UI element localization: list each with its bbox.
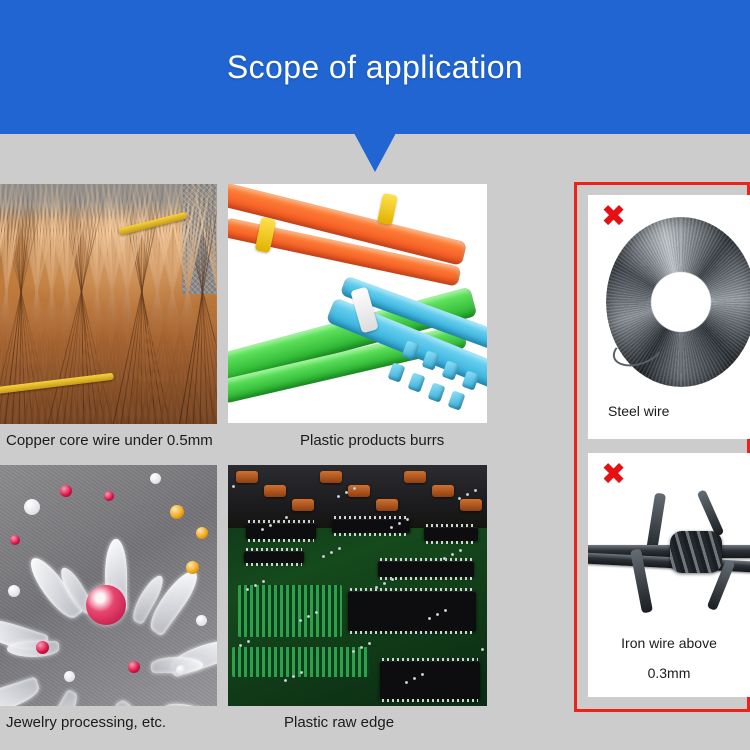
jewelry-gem bbox=[176, 665, 186, 675]
pcb-capacitor bbox=[264, 485, 286, 497]
pcb-solder-point bbox=[232, 485, 235, 488]
pcb-chip bbox=[348, 591, 476, 631]
pcb-capacitor bbox=[348, 485, 370, 497]
pcb-solder-point bbox=[390, 526, 393, 529]
pcb-solder-point bbox=[299, 619, 302, 622]
pcb-chip bbox=[246, 523, 316, 539]
pcb-solder-point bbox=[383, 582, 386, 585]
unsuitable-card-iron-wire: ✖ Iron wire above 0.3mm bbox=[588, 453, 750, 697]
caption-plastic-products-burrs: Plastic products burrs bbox=[300, 432, 444, 449]
jewelry-petal bbox=[114, 697, 154, 706]
jewelry-center-stone bbox=[86, 585, 126, 625]
jewelry-gem bbox=[128, 661, 140, 673]
pcb-solder-point bbox=[330, 551, 333, 554]
pcb-solder-point bbox=[307, 615, 310, 618]
pcb-solder-point bbox=[239, 644, 242, 647]
steel-wire-coil-art bbox=[606, 217, 750, 387]
jewelry-gem bbox=[150, 473, 161, 484]
pcb-solder-point bbox=[443, 557, 446, 560]
caption-jewelry-processing: Jewelry processing, etc. bbox=[6, 714, 166, 731]
caption-iron-wire-line1: Iron wire above bbox=[588, 635, 750, 651]
pcb-solder-point bbox=[292, 675, 295, 678]
jewelry-petal bbox=[0, 676, 42, 706]
caption-copper-core-wire: Copper core wire under 0.5mm bbox=[6, 432, 213, 449]
jewelry-petal bbox=[161, 697, 217, 706]
jewelry-gem bbox=[186, 561, 199, 574]
pcb-capacitor bbox=[404, 471, 426, 483]
pcb-solder-point bbox=[368, 642, 371, 645]
red-x-mark-icon: ✖ bbox=[601, 204, 627, 230]
pcb-solder-point bbox=[345, 491, 348, 494]
jewelry-petal bbox=[7, 641, 59, 657]
pcb-solder-point bbox=[322, 555, 325, 558]
tie-head bbox=[447, 390, 465, 410]
pcb-solder-point bbox=[360, 646, 363, 649]
pcb-solder-point bbox=[300, 671, 303, 674]
jewelry-gem bbox=[104, 491, 114, 501]
barb-spike bbox=[697, 489, 725, 537]
pcb-capacitor bbox=[432, 485, 454, 497]
tie-head bbox=[427, 382, 445, 402]
pcb-solder-point bbox=[338, 547, 341, 550]
photo-copper-core-wire bbox=[0, 184, 217, 424]
yellow-binding-band-2 bbox=[377, 193, 398, 225]
pcb-capacitor bbox=[236, 471, 258, 483]
page-title: Scope of application bbox=[0, 0, 750, 134]
pcb-solder-point bbox=[428, 617, 431, 620]
jewelry-gem bbox=[36, 641, 49, 654]
jewelry-art bbox=[0, 465, 217, 706]
pcb-solder-point bbox=[421, 673, 424, 676]
pcb-chip bbox=[424, 527, 478, 541]
pcb-solder-point bbox=[406, 518, 409, 521]
photo-plastic-cable-ties bbox=[228, 184, 487, 423]
red-x-mark-icon: ✖ bbox=[601, 462, 627, 488]
pcb-chip bbox=[244, 551, 304, 563]
pcb-solder-point bbox=[474, 489, 477, 492]
pcb-solder-point bbox=[436, 613, 439, 616]
pcb-solder-point bbox=[459, 549, 462, 552]
caption-plastic-raw-edge: Plastic raw edge bbox=[284, 714, 394, 731]
photo-jewelry-processing bbox=[0, 465, 217, 706]
cable-ties-art bbox=[228, 184, 487, 423]
pcb-solder-point bbox=[405, 681, 408, 684]
pcb-gold-fingers bbox=[238, 585, 342, 637]
pcb-solder-point bbox=[375, 586, 378, 589]
pcb-solder-point bbox=[451, 553, 454, 556]
caption-iron-wire-line2: 0.3mm bbox=[588, 665, 750, 681]
pcb-solder-point bbox=[352, 650, 355, 653]
barbed-iron-wire-art bbox=[588, 471, 750, 639]
pcb-solder-point bbox=[254, 584, 257, 587]
pcb-solder-point bbox=[337, 495, 340, 498]
pcb-capacitor bbox=[460, 499, 482, 511]
infographic-page: Scope of application Copper core wire un… bbox=[0, 0, 750, 750]
pcb-solder-point bbox=[413, 677, 416, 680]
pcb-connector bbox=[380, 661, 480, 699]
jewelry-gem bbox=[60, 485, 72, 497]
jewelry-gem bbox=[170, 505, 184, 519]
jewelry-gem bbox=[196, 527, 208, 539]
pcb-solder-point bbox=[466, 493, 469, 496]
caption-steel-wire: Steel wire bbox=[588, 403, 750, 419]
copper-wire-art bbox=[0, 184, 217, 424]
pcb-solder-point bbox=[391, 578, 394, 581]
jewelry-gem bbox=[64, 671, 75, 682]
pcb-art bbox=[228, 465, 487, 706]
jewelry-gem bbox=[10, 535, 20, 545]
pcb-solder-point bbox=[285, 516, 288, 519]
pcb-solder-point bbox=[246, 588, 249, 591]
pcb-solder-point bbox=[315, 611, 318, 614]
pcb-solder-point bbox=[247, 640, 250, 643]
pcb-chip bbox=[378, 561, 474, 577]
pcb-solder-point bbox=[262, 580, 265, 583]
pcb-solder-point bbox=[398, 522, 401, 525]
header-banner: Scope of application bbox=[0, 0, 750, 134]
jewelry-petal bbox=[42, 689, 82, 706]
jewelry-gem bbox=[196, 615, 207, 626]
unsuitable-card-steel-wire: ✖ Steel wire bbox=[588, 195, 750, 439]
photo-plastic-raw-edge bbox=[228, 465, 487, 706]
jewelry-gem bbox=[8, 585, 20, 597]
pcb-solder-point bbox=[444, 609, 447, 612]
pcb-solder-point bbox=[458, 497, 461, 500]
pcb-solder-point bbox=[481, 648, 484, 651]
pcb-solder-point bbox=[269, 524, 272, 527]
pcb-capacitor bbox=[376, 499, 398, 511]
jewelry-gem bbox=[24, 499, 40, 515]
pcb-capacitor bbox=[320, 471, 342, 483]
pcb-solder-point bbox=[261, 528, 264, 531]
pcb-capacitor bbox=[292, 499, 314, 511]
banner-arrow-icon bbox=[354, 133, 396, 172]
barb-twist-knot bbox=[670, 531, 722, 573]
pcb-solder-point bbox=[284, 679, 287, 682]
tie-head bbox=[407, 372, 425, 392]
pcb-solder-point bbox=[353, 487, 356, 490]
pcb-solder-point bbox=[277, 520, 280, 523]
unsuitable-panel: ✖ Steel wire ✖ Iron wire above 0.3mm bbox=[574, 182, 750, 712]
